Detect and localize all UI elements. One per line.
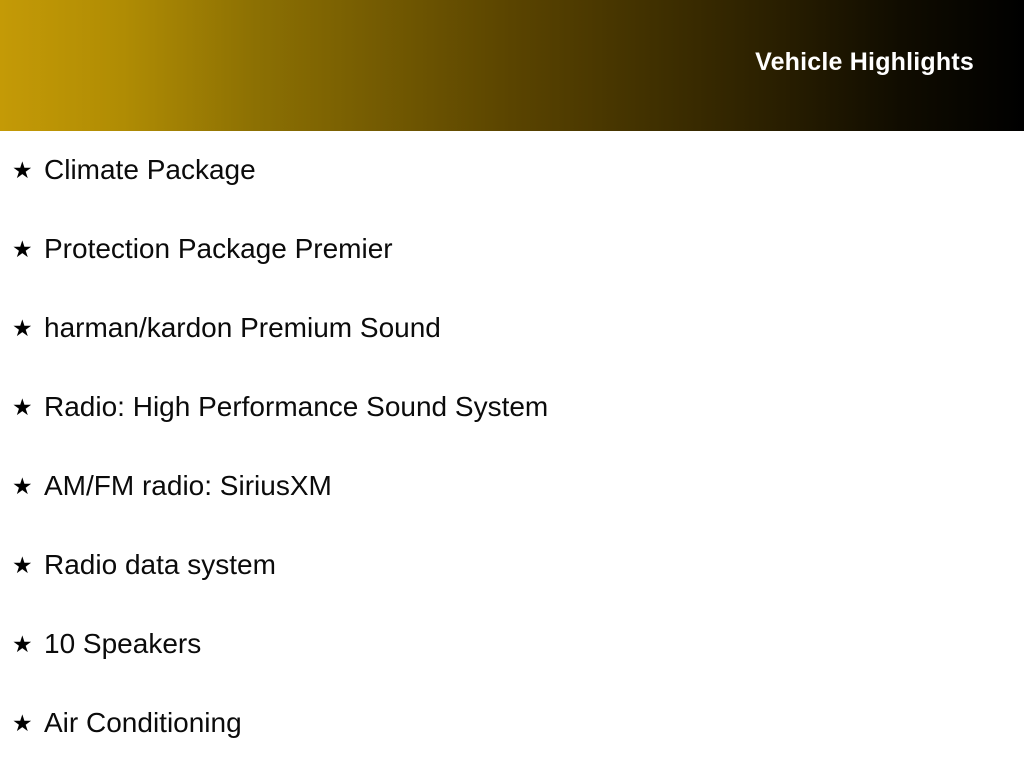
vehicle-highlights-slide: Vehicle Highlights ★ Climate Package ★ P…: [0, 0, 1024, 768]
highlight-label: 10 Speakers: [44, 629, 1024, 660]
list-item: ★ 10 Speakers: [0, 605, 1024, 684]
star-bullet-icon: ★: [12, 554, 44, 577]
star-bullet-icon: ★: [12, 633, 44, 656]
header-band: Vehicle Highlights: [0, 0, 1024, 131]
list-item: ★ AM/FM radio: SiriusXM: [0, 447, 1024, 526]
list-item: ★ Protection Package Premier: [0, 210, 1024, 289]
list-item: ★ Air Conditioning: [0, 684, 1024, 763]
star-bullet-icon: ★: [12, 317, 44, 340]
star-bullet-icon: ★: [12, 396, 44, 419]
highlight-label: Climate Package: [44, 155, 1024, 186]
highlight-label: Radio data system: [44, 550, 1024, 581]
list-item: ★ Radio data system: [0, 526, 1024, 605]
page-title: Vehicle Highlights: [755, 50, 974, 75]
highlight-label: AM/FM radio: SiriusXM: [44, 471, 1024, 502]
list-item: ★ Radio: High Performance Sound System: [0, 368, 1024, 447]
highlight-label: Radio: High Performance Sound System: [44, 392, 1024, 423]
star-bullet-icon: ★: [12, 712, 44, 735]
highlight-label: Air Conditioning: [44, 708, 1024, 739]
vehicle-highlights-list: ★ Climate Package ★ Protection Package P…: [0, 131, 1024, 763]
star-bullet-icon: ★: [12, 238, 44, 261]
highlight-label: harman/kardon Premium Sound: [44, 313, 1024, 344]
list-item: ★ Climate Package: [0, 131, 1024, 210]
highlight-label: Protection Package Premier: [44, 234, 1024, 265]
star-bullet-icon: ★: [12, 475, 44, 498]
star-bullet-icon: ★: [12, 159, 44, 182]
list-item: ★ harman/kardon Premium Sound: [0, 289, 1024, 368]
